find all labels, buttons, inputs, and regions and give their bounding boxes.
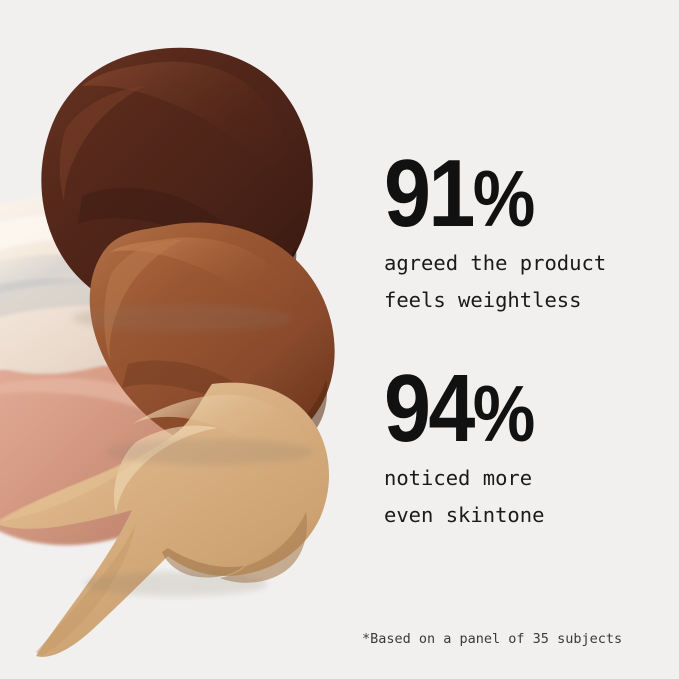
stat-number: 94 — [384, 355, 473, 462]
percent-symbol: % — [473, 369, 534, 458]
claims-infographic: 91% agreed the product feels weightless … — [0, 0, 679, 679]
stat-number: 91 — [384, 140, 473, 247]
stat-caption-line-1: noticed more — [384, 465, 679, 492]
stat-caption-line-2: even skintone — [384, 502, 679, 529]
stat-caption-line-2: feels weightless — [384, 287, 679, 314]
stat-figure-91: 91% — [384, 148, 644, 240]
stat-figure-94: 94% — [384, 363, 644, 455]
percent-symbol: % — [473, 154, 534, 243]
claims-panel: 91% agreed the product feels weightless … — [384, 0, 679, 679]
stat-block-91: 91% agreed the product feels weightless — [384, 148, 679, 315]
stat-caption-line-1: agreed the product — [384, 250, 679, 277]
foundation-swatch-artwork — [0, 0, 360, 679]
footnote-text: *Based on a panel of 35 subjects — [362, 631, 679, 647]
stat-block-94: 94% noticed more even skintone — [384, 363, 679, 530]
